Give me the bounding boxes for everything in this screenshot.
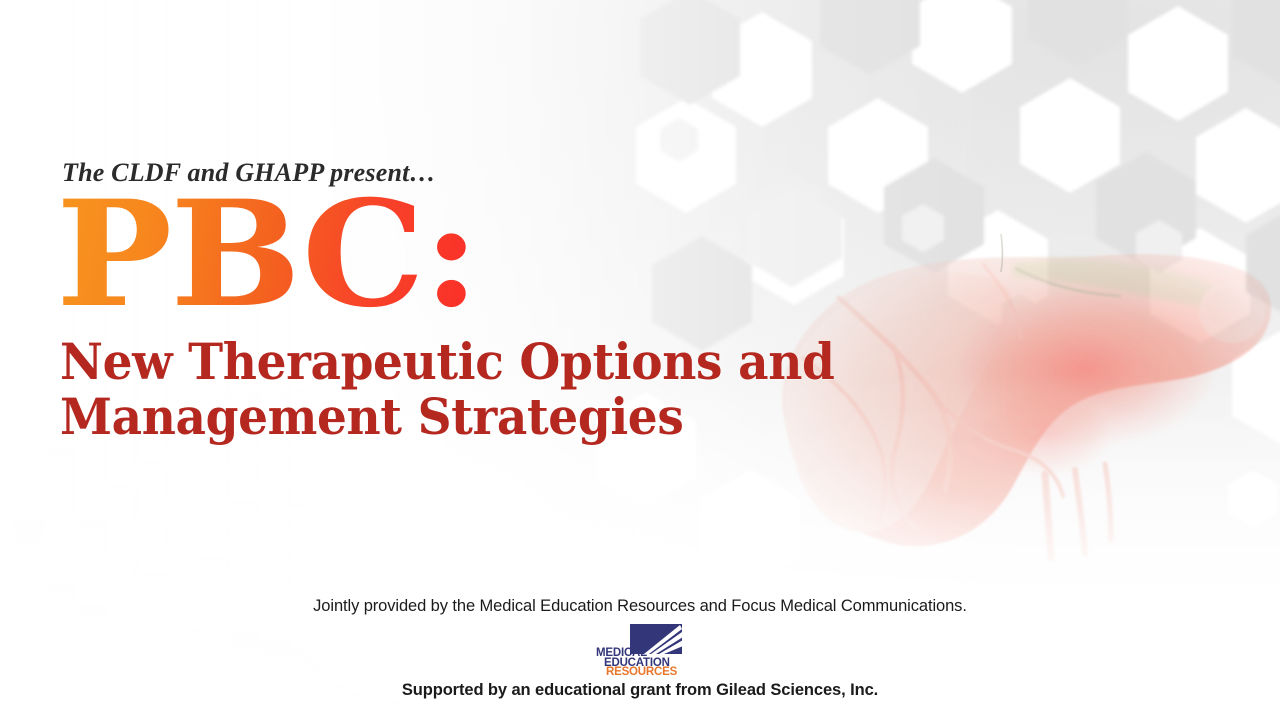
jointly-provided-text: Jointly provided by the Medical Educatio… — [0, 597, 1280, 616]
page-subtitle-line-2: Management Strategies — [60, 389, 834, 444]
page-subtitle-line-1: New Therapeutic Options and — [60, 334, 834, 389]
presentation-title-slide: The CLDF and GHAPP present… PBC: New The… — [0, 0, 1280, 720]
page-title: PBC: — [56, 182, 478, 328]
grant-support-text: Supported by an educational grant from G… — [0, 681, 1280, 700]
logo-line-3: RESOURCES — [606, 666, 678, 676]
medical-education-resources-logo: MEDICAL EDUCATION RESOURCES — [592, 622, 688, 676]
page-subtitle: New Therapeutic Options and Management S… — [60, 334, 834, 444]
